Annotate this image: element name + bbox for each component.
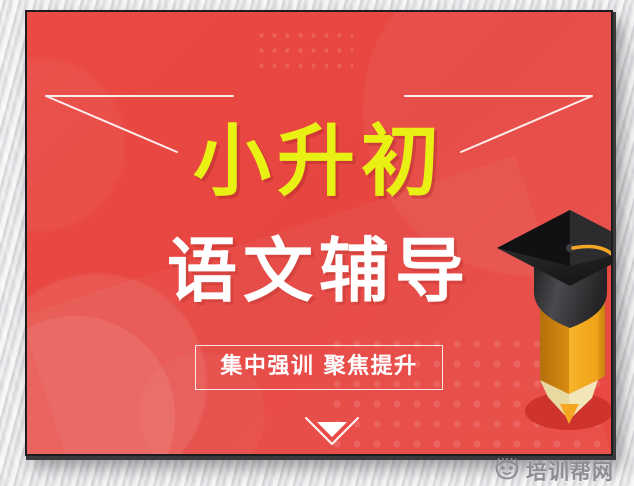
- slogan-text: 集中强训 聚焦提升: [195, 345, 442, 390]
- page-backdrop: 小升初 语文辅导 集中强训 聚焦提升: [0, 0, 634, 486]
- promo-poster: 小升初 语文辅导 集中强训 聚焦提升: [25, 10, 613, 456]
- watermark: 培训帮网: [494, 458, 614, 485]
- poster-background: 小升初 语文辅导 集中强训 聚焦提升: [27, 12, 611, 454]
- headline-primary: 小升初: [27, 122, 611, 202]
- pencil-graduation-cap-illustration: [497, 208, 611, 434]
- chevron-down-icon: [304, 416, 360, 446]
- dot-grid-top: [253, 26, 353, 70]
- mascot-face-icon: [494, 458, 520, 485]
- watermark-text: 培训帮网: [526, 460, 614, 484]
